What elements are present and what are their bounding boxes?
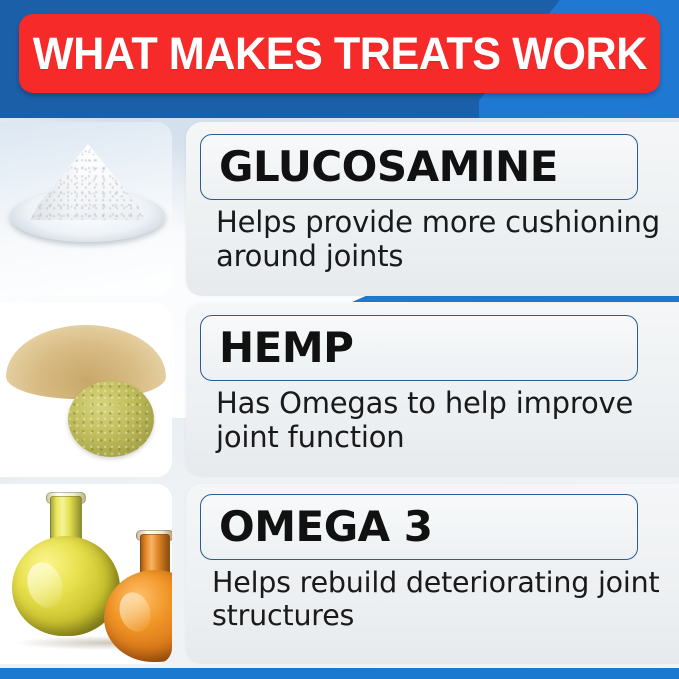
hemp-title-box: HEMP [200,315,638,381]
omega3-oil-flasks-photo [0,484,172,664]
hemp-photo-art [0,303,172,477]
hemp-content-panel: HEMP Has Omegas to help improve joint fu… [186,303,679,477]
page-title: WHAT MAKES TREATS WORK [32,28,646,80]
ingredient-description: Helps provide more cushioning around joi… [216,206,668,273]
omega3-photo-art [0,484,172,664]
glucosamine-photo-art [0,122,172,296]
ingredient-row-hemp: HEMP Has Omegas to help improve joint fu… [0,303,679,477]
hemp-seeds-photo [0,303,172,477]
glucosamine-powder-photo [0,122,172,296]
omega3-content-panel: OMEGA 3 Helps rebuild deteriorating join… [186,484,679,664]
hemp-powder-texture [68,381,154,457]
ingredient-description: Helps rebuild deteriorating joint struct… [212,566,664,632]
glucosamine-title-box: GLUCOSAMINE [200,134,638,200]
ingredient-name: OMEGA 3 [219,506,433,548]
ingredient-row-omega3: OMEGA 3 Helps rebuild deteriorating join… [0,484,679,664]
bottom-blue-strip [0,668,679,679]
omega3-title-box: OMEGA 3 [200,494,638,560]
accent-bar-divider [352,295,679,302]
ingredient-name: HEMP [219,327,353,369]
ingredient-row-glucosamine: GLUCOSAMINE Helps provide more cushionin… [0,122,679,296]
ingredient-name: GLUCOSAMINE [219,146,558,188]
glucosamine-content-panel: GLUCOSAMINE Helps provide more cushionin… [186,122,679,296]
ingredient-description: Has Omegas to help improve joint functio… [216,387,668,454]
infographic-root: WHAT MAKES TREATS WORK GLUCOSAMINE Helps… [0,0,679,679]
header-banner: WHAT MAKES TREATS WORK [19,14,660,93]
